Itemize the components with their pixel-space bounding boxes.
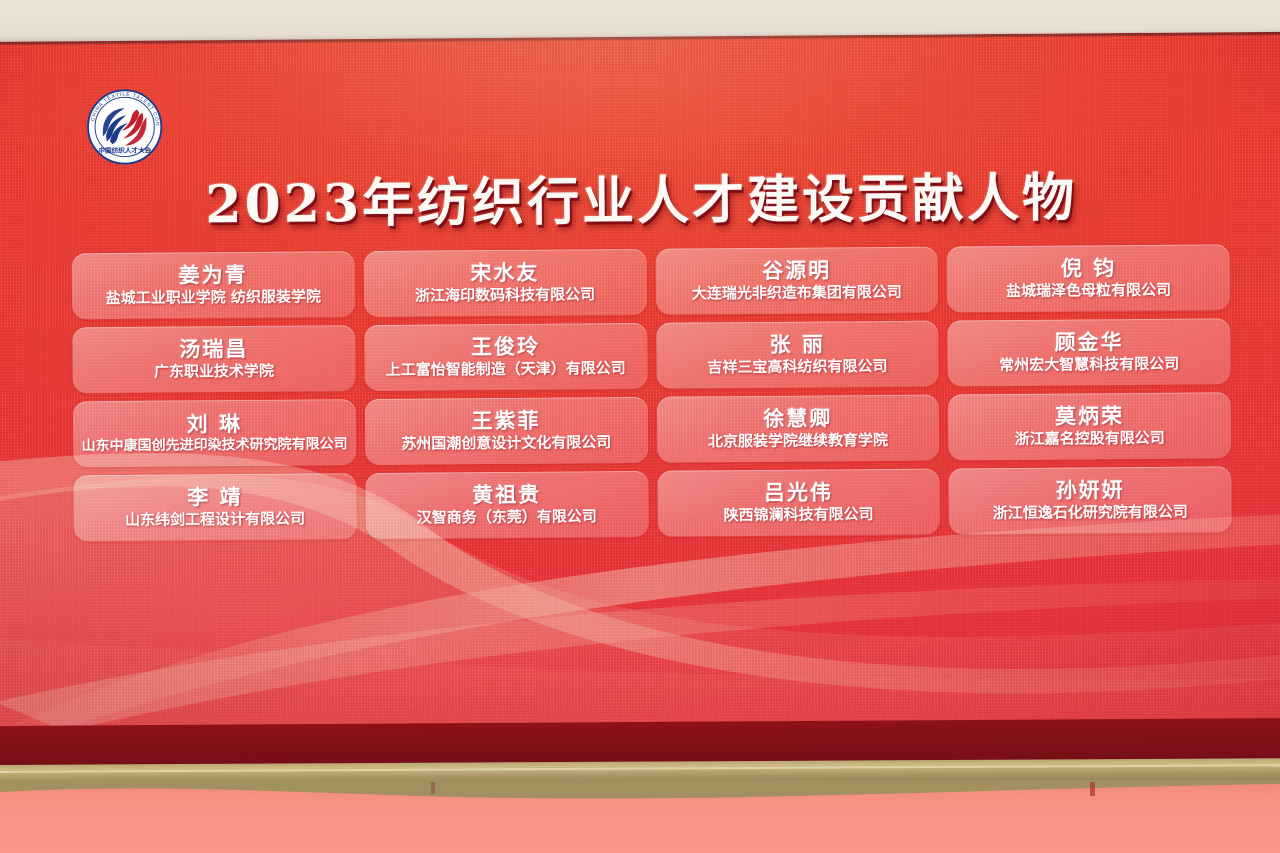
honoree-org: 常州宏大智慧科技有限公司 xyxy=(999,356,1179,374)
honoree-card[interactable]: 谷源明 大连瑞光非织造布集团有限公司 xyxy=(655,247,938,315)
honoree-org: 苏州国潮创意设计文化有限公司 xyxy=(401,434,611,452)
honoree-org: 浙江恒逸石化研究院有限公司 xyxy=(993,504,1188,522)
honoree-name: 徐慧卿 xyxy=(763,408,832,431)
honoree-name: 倪 钧 xyxy=(1061,257,1116,279)
honoree-org: 广东职业技术学院 xyxy=(154,363,274,380)
honoree-name: 谷源明 xyxy=(762,260,831,283)
honoree-org: 吉祥三宝高科纺织有限公司 xyxy=(707,358,887,376)
honoree-card[interactable]: 王俊玲 上工富怡智能制造（天津）有限公司 xyxy=(364,323,647,391)
honoree-card[interactable]: 张 丽 吉祥三宝高科纺织有限公司 xyxy=(656,321,939,389)
honoree-card[interactable]: 黄祖贵 汉智商务（东莞）有限公司 xyxy=(365,471,648,539)
honoree-card[interactable]: 汤瑞昌 广东职业技术学院 xyxy=(72,325,355,393)
honoree-name: 王俊玲 xyxy=(471,336,540,359)
honoree-name: 吕光伟 xyxy=(764,482,833,505)
honoree-card[interactable]: 李 靖 山东纬剑工程设计有限公司 xyxy=(73,473,356,541)
honoree-name: 宋水友 xyxy=(470,262,539,285)
honoree-card[interactable]: 顾金华 常州宏大智慧科技有限公司 xyxy=(947,318,1230,386)
stage-photo: 中国纺织人才大会 CHINA TEXTILE TALENT CONFERENCE… xyxy=(0,0,1280,853)
honoree-name: 孙妍妍 xyxy=(1056,479,1125,502)
honoree-name: 张 丽 xyxy=(770,334,825,356)
honoree-org: 浙江嘉名控股有限公司 xyxy=(1015,430,1165,448)
honoree-name: 刘 琳 xyxy=(187,413,242,435)
honoree-card[interactable]: 倪 钧 盐城瑞泽色母粒有限公司 xyxy=(947,244,1230,312)
honoree-org: 汉智商务（东莞）有限公司 xyxy=(417,509,597,527)
honoree-card[interactable]: 宋水友 浙江海印数码科技有限公司 xyxy=(363,249,646,317)
honoree-name: 汤瑞昌 xyxy=(179,338,248,361)
honoree-org: 浙江海印数码科技有限公司 xyxy=(415,287,595,305)
svg-text:中国纺织人才大会: 中国纺织人才大会 xyxy=(98,145,151,154)
honoree-grid: 姜为青 盐城工业职业学院 纺织服装学院 宋水友 浙江海印数码科技有限公司 谷源明… xyxy=(72,244,1232,541)
stage-marker-left xyxy=(431,782,435,794)
honoree-name: 王紫菲 xyxy=(472,410,541,433)
honoree-org: 北京服装学院继续教育学院 xyxy=(708,432,888,450)
honoree-org: 山东纬剑工程设计有限公司 xyxy=(125,511,305,529)
honoree-org: 上工富怡智能制造（天津）有限公司 xyxy=(386,360,626,378)
page-title: 2023年纺织行业人才建设贡献人物 xyxy=(0,154,1280,239)
honoree-card[interactable]: 王紫菲 苏州国潮创意设计文化有限公司 xyxy=(365,397,648,465)
honoree-card[interactable]: 孙妍妍 浙江恒逸石化研究院有限公司 xyxy=(949,466,1232,534)
conference-logo-icon: 中国纺织人才大会 CHINA TEXTILE TALENT CONFERENCE xyxy=(85,88,164,167)
honoree-name: 黄祖贵 xyxy=(472,484,541,507)
honoree-name: 姜为青 xyxy=(179,264,248,287)
stage-marker-right xyxy=(1090,782,1095,796)
honoree-org: 山东中康国创先进印染技术研究院有限公司 xyxy=(81,437,347,454)
honoree-org: 大连瑞光非织造布集团有限公司 xyxy=(692,284,902,302)
honoree-name: 莫炳荣 xyxy=(1055,405,1124,428)
led-backdrop-screen: 中国纺织人才大会 CHINA TEXTILE TALENT CONFERENCE… xyxy=(0,32,1280,732)
gold-trim-highlight xyxy=(0,764,1280,773)
stage-floor-edge xyxy=(0,780,1280,820)
honoree-card[interactable]: 刘 琳 山东中康国创先进印染技术研究院有限公司 xyxy=(73,399,356,467)
honoree-name: 顾金华 xyxy=(1054,331,1123,354)
honoree-card[interactable]: 姜为青 盐城工业职业学院 纺织服装学院 xyxy=(72,251,355,319)
honoree-org: 盐城工业职业学院 纺织服装学院 xyxy=(106,289,321,307)
honoree-org: 陕西锦澜科技有限公司 xyxy=(724,506,874,524)
honoree-card[interactable]: 吕光伟 陕西锦澜科技有限公司 xyxy=(657,469,940,537)
honoree-card[interactable]: 徐慧卿 北京服装学院继续教育学院 xyxy=(656,395,939,463)
honoree-card[interactable]: 莫炳荣 浙江嘉名控股有限公司 xyxy=(948,392,1231,460)
honoree-org: 盐城瑞泽色母粒有限公司 xyxy=(1006,282,1171,300)
honoree-name: 李 靖 xyxy=(187,486,242,508)
